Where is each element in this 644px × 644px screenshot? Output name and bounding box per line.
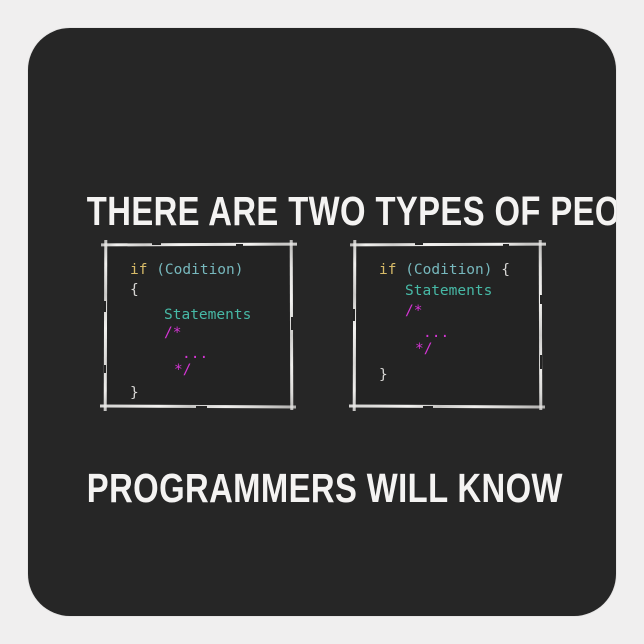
code-token-condition: (Codition) (396, 262, 492, 278)
code-token-brace: } (379, 367, 388, 383)
code-line: } (104, 383, 319, 403)
code-token-brace: { (130, 282, 139, 298)
code-block-knr: if (Codition) { Statements /* ... */ } (353, 243, 542, 408)
headline-text: THERE ARE TWO TYPES OF PEOPLE (87, 188, 557, 234)
code-token-brace: { (493, 262, 510, 278)
code-token-brace: } (130, 385, 139, 401)
code-token-comment: /* (164, 325, 181, 341)
code-token-keyword: if (130, 262, 147, 278)
code-line: if (Codition) (104, 260, 319, 280)
code-line: /* (353, 301, 594, 321)
code-panels-row: if (Codition) { Statements /* ... */ } (28, 243, 616, 423)
code-line: */ (353, 339, 604, 359)
code-token-comment: */ (415, 341, 432, 357)
code-line: if (Codition) { (353, 260, 568, 280)
code-line: Statements (353, 281, 594, 301)
code-panel-knr: if (Codition) { Statements /* ... */ } (353, 243, 542, 408)
code-token-keyword: if (379, 262, 396, 278)
code-line: } (353, 365, 568, 385)
screenshot-canvas: THERE ARE TWO TYPES OF PEOPLE if (Coditi… (0, 0, 644, 644)
code-token-statement: Statements (405, 283, 492, 299)
code-token-statement: Statements (164, 307, 251, 323)
code-line: { (104, 280, 319, 300)
code-token-comment: /* (405, 303, 422, 319)
code-line: /* (104, 323, 353, 343)
code-token-condition: (Codition) (147, 262, 243, 278)
sticker-square: THERE ARE TWO TYPES OF PEOPLE if (Coditi… (28, 28, 616, 616)
code-panel-allman: if (Codition) { Statements /* ... */ } (104, 243, 293, 408)
code-block-allman: if (Codition) { Statements /* ... */ } (104, 243, 293, 408)
code-token-comment: */ (174, 362, 191, 378)
code-line: */ (104, 360, 363, 380)
footer-text: PROGRAMMERS WILL KNOW (87, 465, 557, 511)
code-line: Statements (104, 305, 353, 325)
